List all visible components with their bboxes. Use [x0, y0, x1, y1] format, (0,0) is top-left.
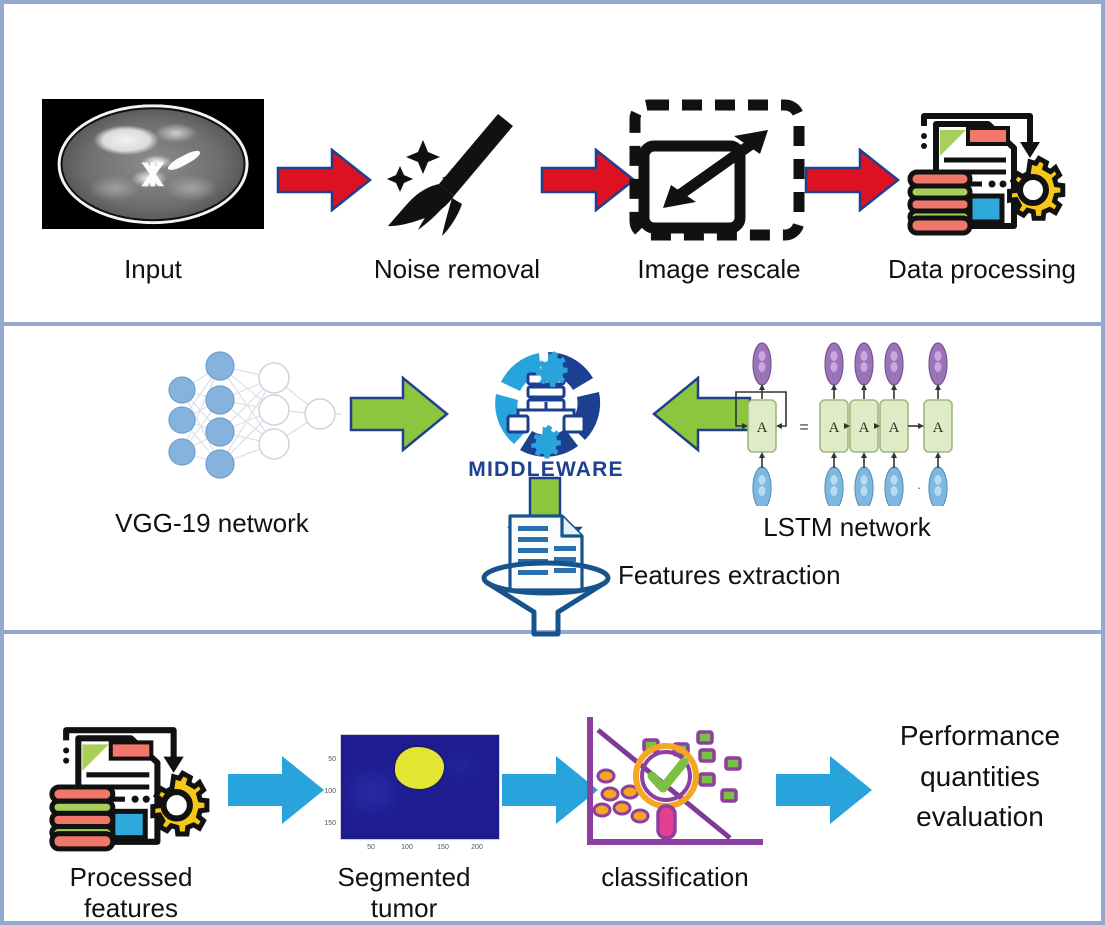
data-processing-icon: [902, 100, 1068, 242]
seg-xtick-2: 150: [432, 844, 454, 851]
seg-ytick-0: 50: [312, 756, 336, 763]
step-label-features-extraction: Features extraction: [618, 560, 908, 591]
step-label-segmented-tumor: Segmented tumor: [304, 862, 504, 923]
step-label-data-processing: Data processing: [862, 254, 1102, 285]
step-label-vgg19: VGG-19 network: [82, 508, 342, 539]
workflow-figure: Input Noise removal: [0, 0, 1105, 925]
rescale-icon: [626, 96, 808, 244]
lstm-ellipsis: ·: [917, 480, 921, 495]
step-label-classification: classification: [570, 862, 780, 893]
neural-network-icon: [154, 348, 344, 488]
seg-xtick-0: 50: [360, 844, 382, 851]
broom-icon: [382, 100, 532, 240]
middleware-icon: [456, 344, 636, 466]
brain-ventricle-region: [131, 163, 175, 186]
arrow-blue-1: [226, 752, 326, 828]
segmented-tumor-canvas: [340, 734, 500, 840]
row-feature-extraction: VGG-19 network: [4, 322, 1101, 634]
step-label-noise-removal: Noise removal: [342, 254, 572, 285]
segmented-tumor-image: 50 100 150 50 100 150 200: [312, 734, 500, 862]
row-classification-evaluation: Processed features 50 100 150 50 100 150…: [4, 634, 1101, 917]
processed-features-icon: [42, 714, 214, 858]
tumor-region: [395, 747, 444, 789]
seg-ytick-2: 150: [312, 820, 336, 827]
arrow-green-right: [349, 374, 449, 454]
step-label-input: Input: [42, 254, 264, 285]
arrow-blue-3: [774, 752, 874, 828]
seg-xtick-3: 200: [466, 844, 488, 851]
step-label-image-rescale: Image rescale: [604, 254, 834, 285]
lstm-equals-symbol: =: [799, 419, 808, 436]
funnel-document-icon: [472, 494, 632, 640]
classification-icon: [580, 714, 772, 860]
brain-mri-image: [42, 99, 264, 229]
step-label-processed-features: Processed features: [26, 862, 236, 923]
seg-ytick-1: 100: [312, 788, 336, 795]
step-label-lstm: LSTM network: [722, 512, 972, 543]
seg-xtick-1: 100: [396, 844, 418, 851]
step-label-performance: Performance quantities evaluation: [860, 716, 1100, 838]
arrow-red-2: [540, 144, 636, 216]
lstm-unrolled-icon: A: [730, 340, 956, 506]
arrow-red-3: [804, 144, 900, 216]
row-preprocessing: Input Noise removal: [4, 4, 1101, 322]
arrow-red-1: [276, 144, 372, 216]
